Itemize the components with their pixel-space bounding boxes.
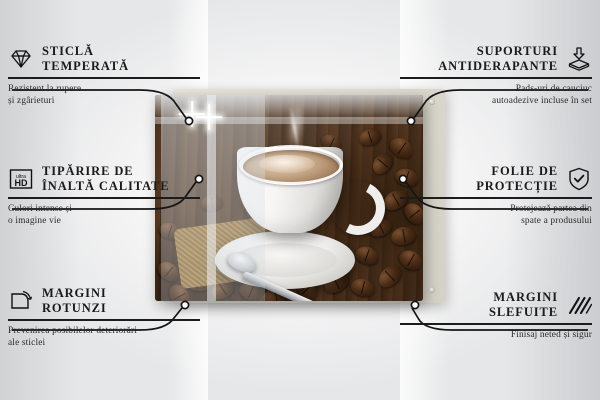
feature-title: SUPORTURI	[438, 44, 558, 59]
feature-tiparire-hd: ultra HD TIPĂRIRE DE ÎNALTĂ CALITATE Cul…	[8, 164, 200, 227]
feature-description: o imagine vie	[8, 215, 200, 227]
feature-title: ANTIDERAPANTE	[438, 59, 558, 74]
feature-description: ale sticlei	[8, 337, 200, 349]
feature-margini-rotunzi: MARGINI ROTUNZI Prevenirea posibilelor d…	[8, 286, 200, 349]
feature-title: ROTUNZI	[42, 301, 107, 316]
feature-divider	[400, 77, 592, 79]
feature-margini-slefuite: MARGINI SLEFUITE Finisaj neted și sigur	[400, 290, 592, 341]
feature-description: Rezistent la rupere	[8, 83, 200, 95]
feature-description: și zgârieturi	[8, 95, 200, 107]
feature-description: Prevenirea posibilelor deteriorări	[8, 325, 200, 337]
feature-title: TIPĂRIRE DE	[42, 164, 170, 179]
anti-slip-pad-icon	[566, 46, 592, 72]
feature-divider	[8, 319, 200, 321]
feature-title: STICLĂ	[42, 44, 129, 59]
feature-folie-de-protectie: FOLIE DE PROTECȚIE Protejează partea din…	[400, 164, 592, 227]
feature-divider	[8, 197, 200, 199]
feature-description: Protejează partea din	[400, 203, 592, 215]
feature-title: MARGINI	[489, 290, 558, 305]
feature-title: TEMPERATĂ	[42, 59, 129, 74]
ultra-hd-icon: ultra HD	[8, 166, 34, 192]
rounded-corner-icon	[8, 288, 34, 314]
infographic-canvas: STICLĂ TEMPERATĂ Rezistent la rupere și …	[0, 0, 600, 400]
feature-description: spate a produsului	[400, 215, 592, 227]
feature-description: Pads-uri de cauciuc	[400, 83, 592, 95]
feature-description: Finisaj neted și sigur	[400, 329, 592, 341]
feature-title: SLEFUITE	[489, 305, 558, 320]
feature-description: Culori intense și	[8, 203, 200, 215]
feature-suporturi-antiderapante: SUPORTURI ANTIDERAPANTE Pads-uri de cauc…	[400, 44, 592, 107]
feature-title: MARGINI	[42, 286, 107, 301]
svg-text:HD: HD	[15, 178, 28, 188]
feature-title: FOLIE DE	[476, 164, 558, 179]
feature-sticla-temperata: STICLĂ TEMPERATĂ Rezistent la rupere și …	[8, 44, 200, 107]
feature-description: autoadezive incluse în set	[400, 95, 592, 107]
feature-divider	[400, 197, 592, 199]
feature-divider	[8, 77, 200, 79]
feature-title: PROTECȚIE	[476, 179, 558, 194]
feature-divider	[400, 323, 592, 325]
feature-title: ÎNALTĂ CALITATE	[42, 179, 170, 194]
diamond-icon	[8, 46, 34, 72]
polished-edges-icon	[566, 292, 592, 318]
shield-check-icon	[566, 166, 592, 192]
